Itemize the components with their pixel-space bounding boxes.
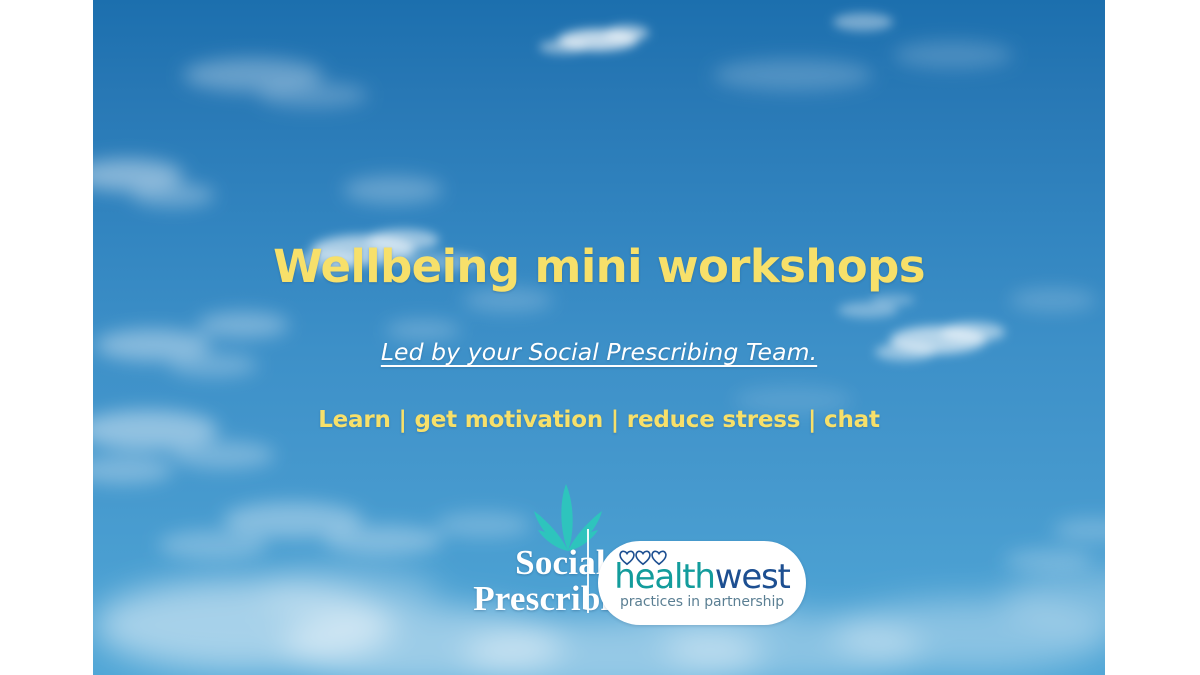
poster-content: Wellbeing mini workshops Led by your Soc… [93,0,1105,675]
page-title: Wellbeing mini workshops [93,240,1105,293]
poster-subtitle: Led by your Social Prescribing Team. [93,338,1105,366]
sky-background-banner: Wellbeing mini workshops Led by your Soc… [93,0,1105,675]
poster-tagline: Learn | get motivation | reduce stress |… [93,407,1105,433]
healthwest-word-west: west [715,557,790,597]
logo-lockup: Social Prescribing [93,483,1105,633]
healthwest-logo: healthwest practices in partnership [598,541,806,625]
poster-page: Wellbeing mini workshops Led by your Soc… [0,0,1200,675]
healthwest-wordmark: healthwest [598,560,806,594]
healthwest-word-health: health [614,557,714,597]
logo-divider [587,529,589,613]
healthwest-tagline: practices in partnership [598,594,806,610]
